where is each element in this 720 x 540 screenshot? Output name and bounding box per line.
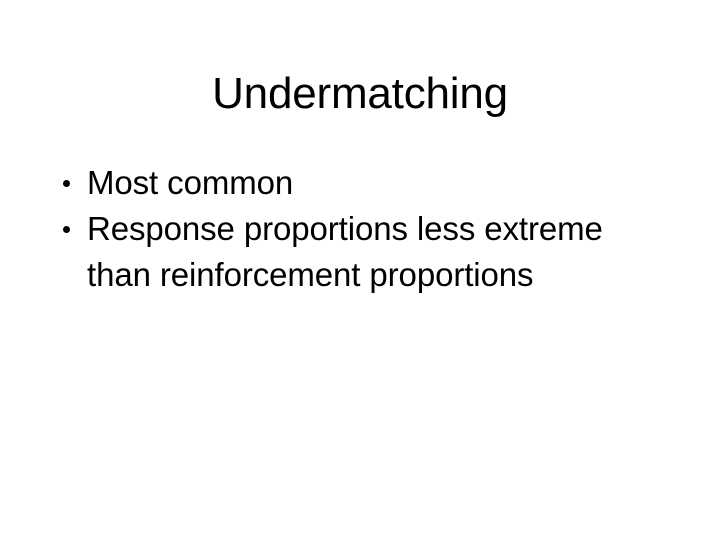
- page-title: Undermatching: [0, 68, 720, 120]
- list-item: Most common: [58, 160, 658, 206]
- bullet-list: Most common Response proportions less ex…: [58, 160, 658, 298]
- list-item: Response proportions less extreme than r…: [58, 206, 658, 298]
- bullet-dot-icon: [63, 180, 70, 187]
- list-item-label: Response proportions less extreme than r…: [87, 206, 658, 298]
- bullet-dot-icon: [63, 226, 70, 233]
- list-item-label: Most common: [87, 160, 658, 206]
- slide-canvas: Undermatching Most common Response propo…: [0, 0, 720, 540]
